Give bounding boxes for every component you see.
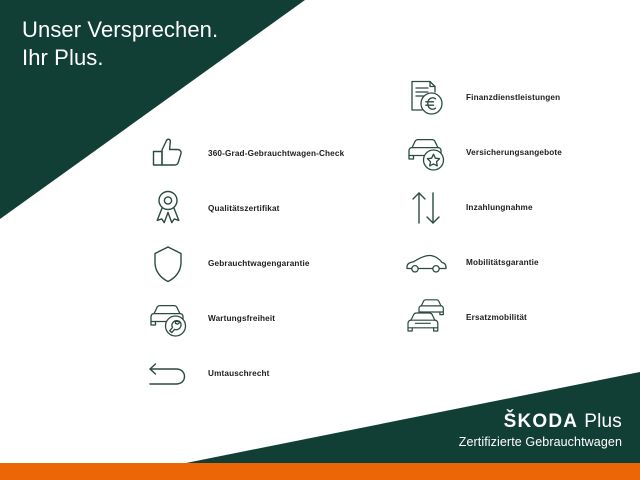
list-item: Umtauschrecht — [140, 346, 390, 401]
car-wrench-icon — [140, 295, 196, 343]
list-item-label: Versicherungsangebote — [454, 148, 562, 157]
thumbs-up-icon — [140, 130, 196, 178]
feature-list-right: Finanzdienstleistungen Versicherungsange… — [398, 70, 640, 345]
list-item: Wartungsfreiheit — [140, 291, 390, 346]
logo-brand: ŠKODA — [504, 411, 579, 432]
up-down-arrows-icon — [398, 184, 454, 232]
award-rosette-icon — [140, 185, 196, 233]
skoda-plus-logo: ŠKODAPlus Zertifizierte Gebrauchtwagen — [459, 411, 622, 450]
list-item: Versicherungsangebote — [398, 125, 640, 180]
logo-tagline: Zertifizierte Gebrauchtwagen — [459, 434, 622, 450]
list-item-label: Inzahlungnahme — [454, 203, 533, 212]
list-item-label: Finanzdienstleistungen — [454, 93, 560, 102]
logo-suffix: Plus — [584, 411, 622, 432]
headline-line-1: Unser Versprechen. — [22, 16, 218, 44]
list-item-label: Umtauschrecht — [196, 369, 270, 378]
orange-bottom-bar — [0, 463, 640, 480]
shield-icon — [140, 240, 196, 288]
car-star-icon — [398, 129, 454, 177]
list-item: 360-Grad-Gebrauchtwagen-Check — [140, 126, 390, 181]
list-item: Qualitätszertifikat — [140, 181, 390, 236]
logo-wordmark: ŠKODAPlus — [459, 411, 622, 433]
document-euro-icon — [398, 74, 454, 122]
list-item-label: Wartungsfreiheit — [196, 314, 275, 323]
list-item: Finanzdienstleistungen — [398, 70, 640, 125]
feature-list-left: 360-Grad-Gebrauchtwagen-Check Qualitätsz… — [140, 126, 390, 401]
list-item: Mobilitätsgarantie — [398, 235, 640, 290]
car-side-icon — [398, 239, 454, 287]
headline-line-2: Ihr Plus. — [22, 44, 218, 72]
page-title: Unser Versprechen. Ihr Plus. — [22, 16, 218, 72]
return-arrow-icon — [140, 350, 196, 398]
list-item-label: Qualitätszertifikat — [196, 204, 280, 213]
skoda-plus-promise-slide: Unser Versprechen. Ihr Plus. 360-Grad-Ge… — [0, 0, 640, 480]
list-item-label: Ersatzmobilität — [454, 313, 527, 322]
list-item: Ersatzmobilität — [398, 290, 640, 345]
two-cars-icon — [398, 294, 454, 342]
list-item-label: Mobilitätsgarantie — [454, 258, 539, 267]
list-item-label: Gebrauchtwagengarantie — [196, 259, 310, 268]
list-item: Inzahlungnahme — [398, 180, 640, 235]
list-item: Gebrauchtwagengarantie — [140, 236, 390, 291]
list-item-label: 360-Grad-Gebrauchtwagen-Check — [196, 149, 344, 158]
